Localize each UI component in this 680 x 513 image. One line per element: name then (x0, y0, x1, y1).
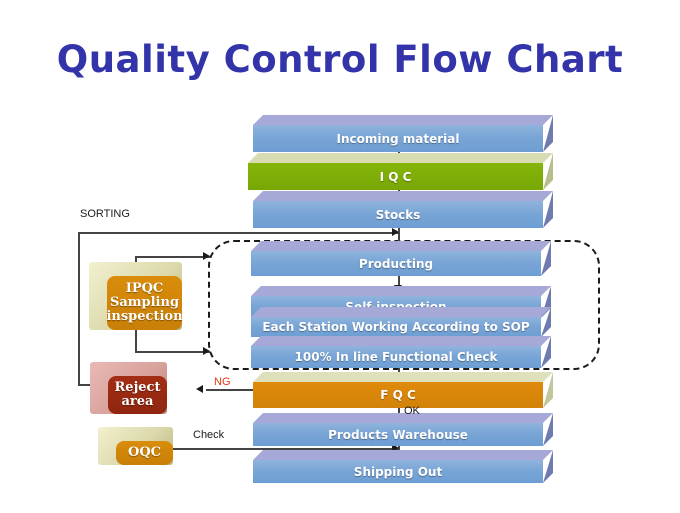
producting-top-bevel (251, 241, 551, 251)
arrow-sorting-into-spine (392, 228, 399, 236)
fqc-top-bevel (253, 372, 553, 382)
node-sop[interactable]: Each Station Working According to SOP (251, 307, 551, 337)
shipping-out-top-bevel (253, 450, 553, 460)
iqc-top-bevel (248, 153, 553, 163)
node-reject-area[interactable]: Reject area (90, 362, 167, 414)
sop-top-bevel (251, 307, 551, 317)
node-producting[interactable]: Producting (251, 241, 551, 276)
reject-label-line-1: Reject (115, 380, 161, 395)
node-inline-functional-check[interactable]: 100% In line Functional Check (251, 336, 551, 368)
node-ipqc-sampling-inspection[interactable]: IPQC Sampling inspection (89, 262, 182, 330)
iqc-label: I Q C (248, 163, 543, 190)
ipqc-label-line-1: IPQC (126, 281, 164, 296)
incoming-material-label: Incoming material (253, 125, 543, 152)
ipqc-label-line-3: inspection (106, 309, 182, 324)
node-fqc[interactable]: F Q C (253, 372, 553, 408)
reject-label-multiline: Reject area (115, 381, 161, 410)
node-incoming-material[interactable]: Incoming material (253, 115, 553, 152)
arrow-ng-to-reject (196, 385, 203, 393)
flowchart-canvas: Quality Control Flow Chart (0, 0, 680, 513)
products-warehouse-label: Products Warehouse (253, 423, 543, 446)
connector-ipqc-to-zone-top (135, 256, 210, 258)
node-iqc[interactable]: I Q C (248, 153, 553, 190)
connector-sorting-left-rail (78, 232, 80, 385)
label-check: Check (193, 429, 224, 441)
fqc-label: F Q C (253, 382, 543, 408)
stocks-top-bevel (253, 191, 553, 201)
inline-check-top-bevel (251, 336, 551, 346)
oqc-face: OQC (116, 441, 173, 465)
arrow-ipqc-to-zone-top (203, 252, 210, 260)
oqc-label: OQC (128, 446, 161, 460)
inline-check-label: 100% In line Functional Check (251, 346, 541, 368)
label-ok: OK (404, 405, 420, 417)
stocks-label: Stocks (253, 201, 543, 228)
producting-label: Producting (251, 251, 541, 276)
node-products-warehouse[interactable]: Products Warehouse (253, 413, 553, 446)
self-inspection-top-bevel (251, 286, 551, 296)
label-ng: NG (214, 376, 231, 388)
node-oqc[interactable]: OQC (98, 427, 173, 465)
page-title: Quality Control Flow Chart (0, 38, 680, 81)
sop-label: Each Station Working According to SOP (251, 317, 541, 337)
reject-label-line-2: area (122, 394, 154, 409)
connector-ipqc-to-zone-bottom (135, 351, 210, 353)
ipqc-face: IPQC Sampling inspection (107, 276, 182, 330)
arrow-ipqc-to-zone-bottom (203, 347, 210, 355)
label-sorting: SORTING (80, 208, 130, 220)
connector-ipqc-down-stub (135, 330, 137, 352)
ipqc-label-line-2: Sampling (110, 295, 179, 310)
connector-sorting-into-spine (78, 232, 400, 234)
incoming-material-top-bevel (253, 115, 553, 125)
node-shipping-out[interactable]: Shipping Out (253, 450, 553, 483)
ipqc-label-multiline: IPQC Sampling inspection (106, 282, 182, 325)
reject-face: Reject area (108, 376, 167, 414)
shipping-out-label: Shipping Out (253, 460, 543, 483)
node-stocks[interactable]: Stocks (253, 191, 553, 228)
products-warehouse-top-bevel (253, 413, 553, 423)
